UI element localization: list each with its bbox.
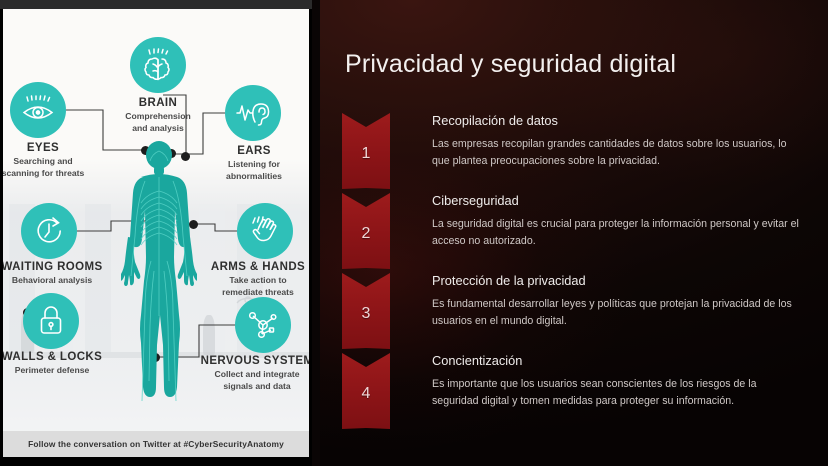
- node-nervous-system[interactable]: [235, 297, 291, 353]
- node-brain[interactable]: [130, 37, 186, 93]
- brain-icon: [141, 48, 175, 82]
- content-panel: Privacidad y seguridad digital 1 Recopil…: [320, 0, 828, 466]
- presentation-slide: BRAIN Comprehension and analysis: [0, 0, 828, 466]
- list-item-title: Protección de la privacidad: [432, 273, 804, 288]
- image-top-bar: [0, 0, 312, 9]
- node-title: NERVOUS SYSTEM: [196, 355, 309, 368]
- node-title: BRAIN: [103, 97, 213, 110]
- caption-ears: EARS Listening for abnormalities: [206, 145, 302, 181]
- page-title: Privacidad y seguridad digital: [345, 50, 805, 79]
- ear-waveform-icon: [235, 98, 271, 128]
- node-subtitle: Listening for: [206, 159, 302, 170]
- list-item-description: Es importante que los usuarios sean cons…: [432, 376, 804, 410]
- node-subtitle: Comprehension: [103, 111, 213, 122]
- list-item-badge: 4: [342, 353, 390, 429]
- padlock-icon: [36, 304, 66, 338]
- node-subtitle: Behavioral analysis: [3, 275, 113, 286]
- node-subtitle: Searching and: [3, 156, 98, 167]
- network-nodes-icon: [247, 309, 279, 341]
- infographic-footer: Follow the conversation on Twitter at #C…: [3, 431, 309, 457]
- badge-number: 2: [362, 225, 371, 243]
- list-item-title: Recopilación de datos: [432, 113, 804, 128]
- list-item-description: Es fundamental desarrollar leyes y polít…: [432, 296, 804, 330]
- caption-brain: BRAIN Comprehension and analysis: [103, 97, 213, 133]
- caption-eyes: EYES Searching and scanning for threats: [3, 142, 98, 178]
- list-item-badge: 3: [342, 273, 390, 349]
- list-item-title: Ciberseguridad: [432, 193, 804, 208]
- node-subtitle: remediate threats: [200, 287, 309, 298]
- node-title: EARS: [206, 145, 302, 158]
- node-subtitle: Collect and integrate: [196, 369, 309, 380]
- node-arms-hands[interactable]: [237, 203, 293, 259]
- node-eyes[interactable]: [10, 82, 66, 138]
- node-subtitle: Perimeter defense: [3, 365, 115, 376]
- list-item[interactable]: 4 Concientización Es importante que los …: [342, 353, 812, 433]
- badge-number: 3: [362, 305, 371, 323]
- node-walls-locks[interactable]: [23, 293, 79, 349]
- caption-nervous-system: NERVOUS SYSTEM Collect and integrate sig…: [196, 355, 309, 391]
- node-title: WALLS & LOCKS: [3, 351, 115, 364]
- list-item-title: Concientización: [432, 353, 804, 368]
- node-waiting-rooms[interactable]: [21, 203, 77, 259]
- list-item-body: Concientización Es importante que los us…: [432, 353, 804, 410]
- list-item[interactable]: 2 Ciberseguridad La seguridad digital es…: [342, 193, 812, 273]
- cybersecurity-anatomy-infographic: BRAIN Comprehension and analysis: [0, 0, 312, 466]
- list-item-body: Ciberseguridad La seguridad digital es c…: [432, 193, 804, 250]
- node-title: ARMS & HANDS: [200, 261, 309, 274]
- infographic-canvas: BRAIN Comprehension and analysis: [3, 9, 309, 457]
- numbered-list: 1 Recopilación de datos Las empresas rec…: [342, 113, 812, 433]
- node-title: WAITING ROOMS: [3, 261, 113, 274]
- list-item-badge: 2: [342, 193, 390, 269]
- node-subtitle: signals and data: [196, 381, 309, 392]
- clock-icon: [32, 214, 66, 248]
- node-ears[interactable]: [225, 85, 281, 141]
- caption-waiting-rooms: WAITING ROOMS Behavioral analysis: [3, 261, 113, 286]
- eye-icon: [20, 95, 56, 125]
- list-item-description: La seguridad digital es crucial para pro…: [432, 216, 804, 250]
- node-subtitle: and analysis: [103, 123, 213, 134]
- caption-arms-hands: ARMS & HANDS Take action to remediate th…: [200, 261, 309, 297]
- list-item-body: Protección de la privacidad Es fundament…: [432, 273, 804, 330]
- badge-number: 4: [362, 385, 371, 403]
- node-title: EYES: [3, 142, 98, 155]
- node-subtitle: Take action to: [200, 275, 309, 286]
- list-item[interactable]: 3 Protección de la privacidad Es fundame…: [342, 273, 812, 353]
- human-nervous-system-figure: [121, 141, 197, 406]
- list-item-description: Las empresas recopilan grandes cantidade…: [432, 136, 804, 170]
- footer-text: Follow the conversation on Twitter at #C…: [28, 439, 284, 449]
- list-item[interactable]: 1 Recopilación de datos Las empresas rec…: [342, 113, 812, 193]
- list-item-body: Recopilación de datos Las empresas recop…: [432, 113, 804, 170]
- node-subtitle: scanning for threats: [3, 168, 98, 179]
- list-item-badge: 1: [342, 113, 390, 189]
- node-subtitle: abnormalities: [206, 171, 302, 182]
- badge-number: 1: [362, 145, 371, 163]
- caption-walls-locks: WALLS & LOCKS Perimeter defense: [3, 351, 115, 376]
- hands-icon: [249, 214, 281, 248]
